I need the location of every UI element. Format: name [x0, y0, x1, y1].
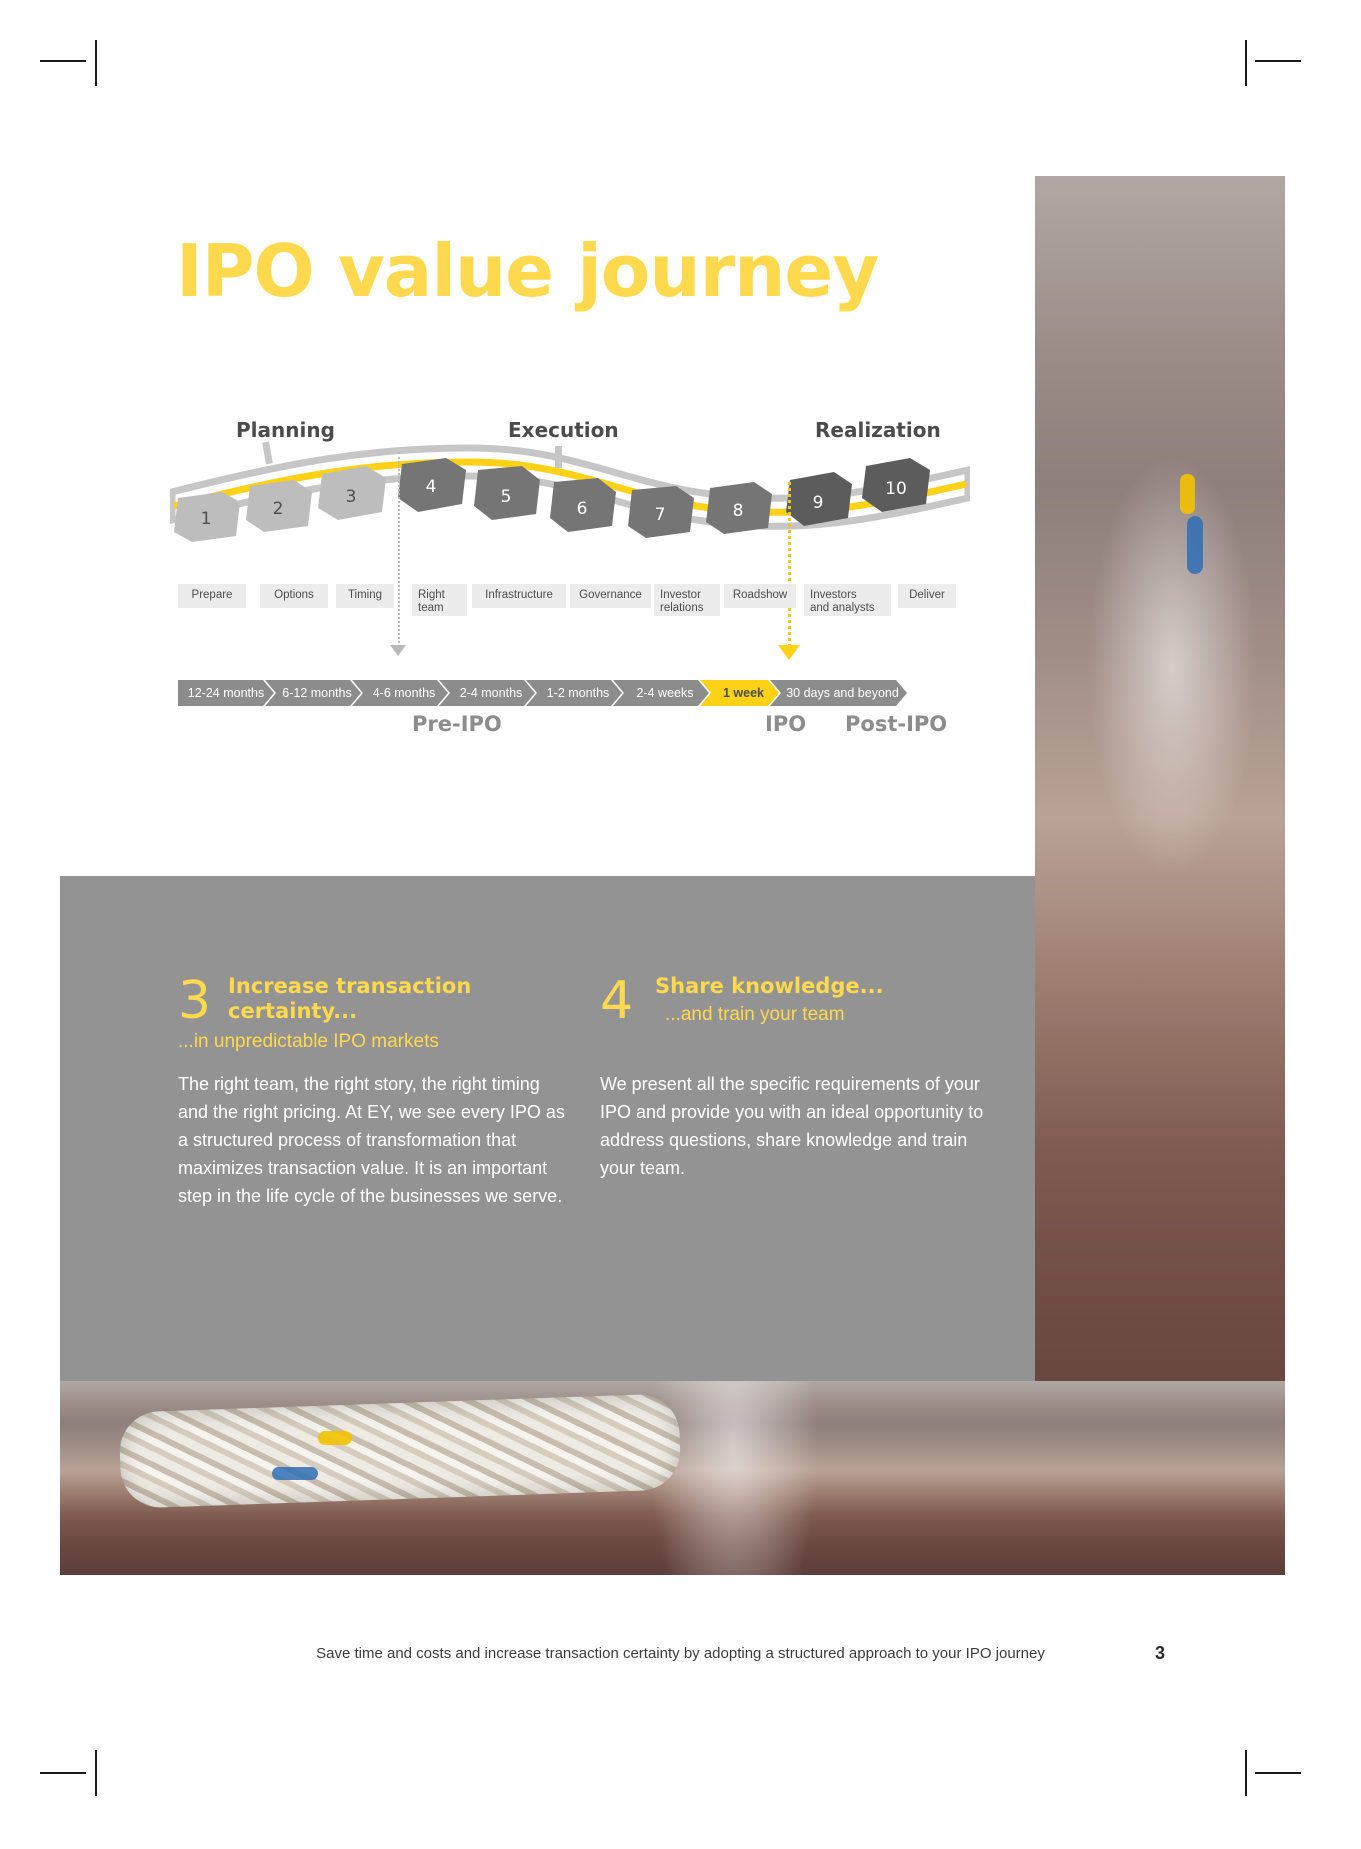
- phase-divider-ipo: [788, 482, 791, 647]
- svg-text:7: 7: [655, 505, 666, 525]
- timeline-segment-8[interactable]: 30 days and beyond: [770, 680, 907, 706]
- section-4-title: Share knowledge...: [655, 974, 975, 999]
- page-number: 3: [1155, 1643, 1165, 1664]
- step-chip-5[interactable]: Infrastructure: [472, 584, 566, 608]
- timeline-segment-5[interactable]: 1-2 months: [526, 680, 622, 706]
- step-chip-7[interactable]: Investorrelations: [654, 584, 720, 616]
- phase-divider-arrow-gray: [390, 645, 406, 656]
- phase-divider-planning-execution: [398, 452, 400, 647]
- crop-mark-tl-h: [40, 60, 86, 62]
- rope-blue-thread: [1187, 516, 1203, 574]
- crop-mark-tl-v: [95, 40, 97, 86]
- svg-text:9: 9: [813, 493, 824, 513]
- rope-yellow-thread-bottom: [318, 1431, 352, 1445]
- svg-text:5: 5: [501, 487, 512, 507]
- journey-road: 1 2 3 4 5 6 7 8: [170, 440, 970, 550]
- step-chip-3[interactable]: Timing: [336, 584, 394, 608]
- crop-mark-tr-h: [1255, 60, 1301, 62]
- section-3-subtitle: ...in unpredictable IPO markets: [178, 1030, 439, 1053]
- svg-text:3: 3: [346, 487, 357, 507]
- rope-blue-thread-bottom: [272, 1467, 318, 1480]
- svg-text:4: 4: [426, 477, 437, 497]
- timeline-segment-6[interactable]: 2-4 weeks: [613, 680, 709, 706]
- section-3-body: The right team, the right story, the rig…: [178, 1070, 570, 1210]
- rope-texture-bottom: [118, 1393, 681, 1508]
- crop-mark-tr-v: [1245, 40, 1247, 86]
- step-chip-6[interactable]: Governance: [570, 584, 651, 608]
- stage-label-ipo: IPO: [765, 712, 806, 736]
- crop-mark-bl-v: [95, 1750, 97, 1796]
- section-3-title: Increase transactioncertainty...: [228, 974, 528, 1024]
- svg-text:10: 10: [885, 479, 907, 499]
- timeline-segment-2[interactable]: 6-12 months: [265, 680, 361, 706]
- step-chip-2[interactable]: Options: [260, 584, 328, 608]
- svg-text:2: 2: [273, 499, 284, 519]
- svg-text:8: 8: [733, 501, 744, 521]
- page-artboard: IPO value journey Planning Execution Rea…: [0, 0, 1361, 1849]
- timeline-bar: 12-24 months 6-12 months 4-6 months 2-4 …: [178, 680, 907, 706]
- section-3-number: 3: [178, 975, 211, 1027]
- phase-divider-arrow-yellow: [778, 645, 800, 660]
- svg-text:1: 1: [201, 509, 212, 529]
- step-chip-10[interactable]: Deliver: [898, 584, 956, 608]
- stage-label-post-ipo: Post-IPO: [845, 712, 947, 736]
- timeline-segment-7[interactable]: 1 week: [700, 680, 779, 706]
- rope-yellow-thread: [1180, 474, 1195, 514]
- phase-label-execution: Execution: [508, 418, 619, 442]
- step-chip-9[interactable]: Investorsand analysts: [804, 584, 891, 616]
- step-chip-8[interactable]: Roadshow: [724, 584, 796, 608]
- phase-label-realization: Realization: [815, 418, 941, 442]
- page-title: IPO value journey: [176, 235, 878, 307]
- step-chip-4[interactable]: Rightteam: [412, 584, 467, 616]
- step-chip-1[interactable]: Prepare: [178, 584, 246, 608]
- rope-photo-bottom: [60, 1381, 1285, 1575]
- section-4-body: We present all the specific requirements…: [600, 1070, 998, 1182]
- phase-label-planning: Planning: [236, 418, 335, 442]
- timeline-segment-4[interactable]: 2-4 months: [439, 680, 535, 706]
- crop-mark-bl-h: [40, 1772, 86, 1774]
- timeline-segment-3[interactable]: 4-6 months: [352, 680, 448, 706]
- svg-text:6: 6: [577, 499, 588, 519]
- section-4-number: 4: [600, 975, 633, 1027]
- crop-mark-br-v: [1245, 1750, 1247, 1796]
- stage-label-pre-ipo: Pre-IPO: [412, 712, 502, 736]
- crop-mark-br-h: [1255, 1772, 1301, 1774]
- section-4-subtitle: ...and train your team: [665, 1003, 845, 1026]
- rope-photo-right: [1035, 176, 1285, 1575]
- timeline-segment-1[interactable]: 12-24 months: [178, 680, 274, 706]
